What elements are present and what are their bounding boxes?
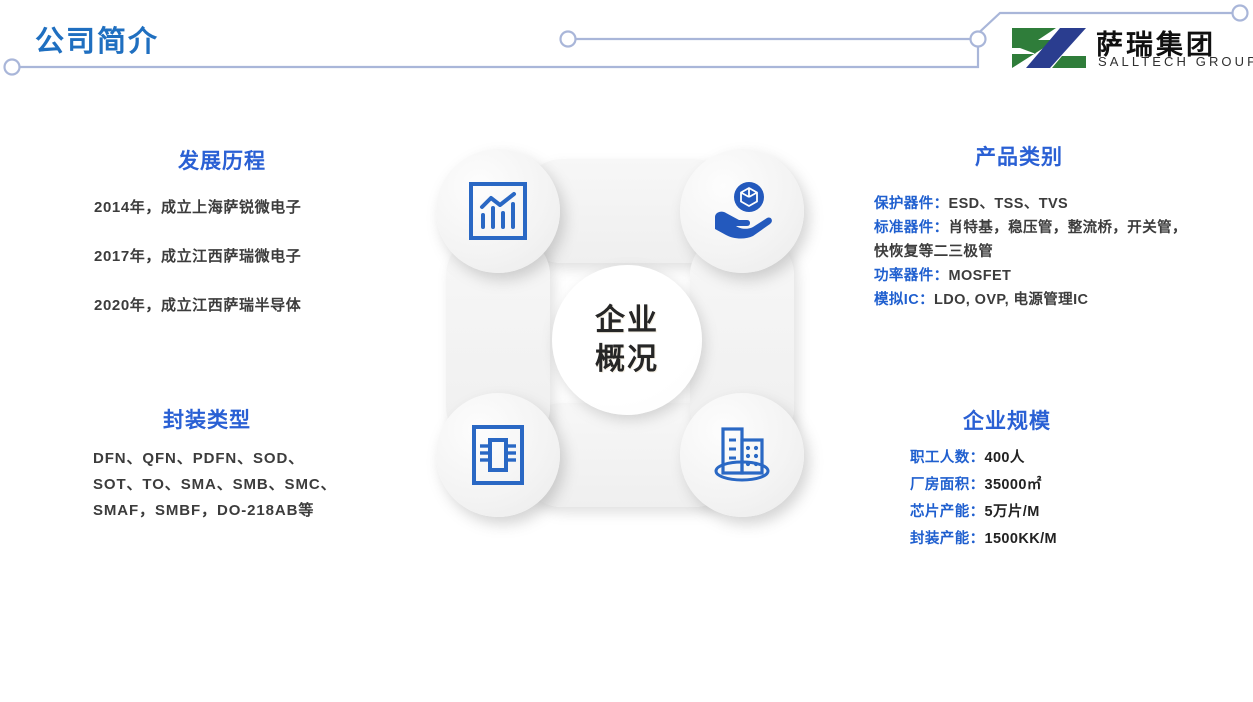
hub-title-line2: 概况 xyxy=(595,340,659,379)
scale-label: 职工人数： xyxy=(910,450,985,466)
scale-value: 1500KK/M xyxy=(985,531,1058,547)
package-type-body: DFN、QFN、PDFN、SOD、SOT、TO、SMA、SMB、SMC、SMAF… xyxy=(93,446,338,524)
company-logo: 萨瑞集团 SALLTECH GROUP xyxy=(1010,22,1240,74)
scale-row: 封装产能：1500KK/M xyxy=(910,526,1210,553)
hand-holding-box-icon xyxy=(709,180,775,242)
product-label: 功率器件： xyxy=(874,268,949,284)
product-row: 模拟IC：LDO, OVP, 电源管理IC xyxy=(874,288,1194,312)
page-title: 公司简介 xyxy=(35,18,159,60)
hub-title-line1: 企业 xyxy=(595,301,659,340)
product-value: ESD、TSS、TVS xyxy=(949,196,1069,212)
company-scale-body: 职工人数：400人 厂房面积：35000㎡ 芯片产能：5万片/M 封装产能：15… xyxy=(910,445,1210,553)
history-item: 2014年，成立上海萨锐微电子 xyxy=(94,196,424,217)
node-company-scale[interactable] xyxy=(680,393,804,517)
node-product-category[interactable] xyxy=(680,149,804,273)
center-infographic: 企业 概况 xyxy=(412,125,842,555)
product-row: 功率器件：MOSFET xyxy=(874,264,1194,288)
package-type-heading: 封装类型 xyxy=(163,404,251,434)
node-development-history[interactable] xyxy=(436,149,560,273)
center-hub: 企业 概况 xyxy=(552,265,702,415)
history-list: 2014年，成立上海萨锐微电子 2017年，成立江西萨瑞微电子 2020年，成立… xyxy=(94,196,424,343)
page-header: 公司简介 萨瑞集团 SALLTECH GROUP xyxy=(0,0,1253,95)
history-item: 2020年，成立江西萨瑞半导体 xyxy=(94,294,424,315)
product-value: MOSFET xyxy=(949,268,1012,284)
scale-value: 400人 xyxy=(985,450,1025,466)
product-row: 标准器件：肖特基，稳压管，整流桥，开关管，快恢复等二三极管 xyxy=(874,216,1194,264)
office-buildings-icon xyxy=(709,423,775,487)
product-category-heading: 产品类别 xyxy=(975,141,1063,171)
scale-value: 35000㎡ xyxy=(985,477,1042,493)
product-label: 模拟IC： xyxy=(874,292,934,308)
bar-chart-icon xyxy=(466,179,530,243)
salltech-logo-mark xyxy=(1010,26,1088,70)
history-heading: 发展历程 xyxy=(178,145,266,175)
scale-row: 厂房面积：35000㎡ xyxy=(910,472,1210,499)
history-item: 2017年，成立江西萨瑞微电子 xyxy=(94,245,424,266)
logo-name-en: SALLTECH GROUP xyxy=(1098,54,1253,69)
scale-label: 芯片产能： xyxy=(910,504,985,520)
node-package-type[interactable] xyxy=(436,393,560,517)
product-label: 保护器件： xyxy=(874,196,949,212)
product-label: 标准器件： xyxy=(874,220,949,236)
scale-value: 5万片/M xyxy=(985,504,1040,520)
scale-label: 厂房面积： xyxy=(910,477,985,493)
chip-package-icon xyxy=(466,423,530,487)
product-category-body: 保护器件：ESD、TSS、TVS 标准器件：肖特基，稳压管，整流桥，开关管，快恢… xyxy=(874,192,1194,312)
scale-row: 职工人数：400人 xyxy=(910,445,1210,472)
product-value: LDO, OVP, 电源管理IC xyxy=(934,292,1088,308)
company-scale-heading: 企业规模 xyxy=(963,405,1051,435)
product-row: 保护器件：ESD、TSS、TVS xyxy=(874,192,1194,216)
scale-label: 封装产能： xyxy=(910,531,985,547)
scale-row: 芯片产能：5万片/M xyxy=(910,499,1210,526)
